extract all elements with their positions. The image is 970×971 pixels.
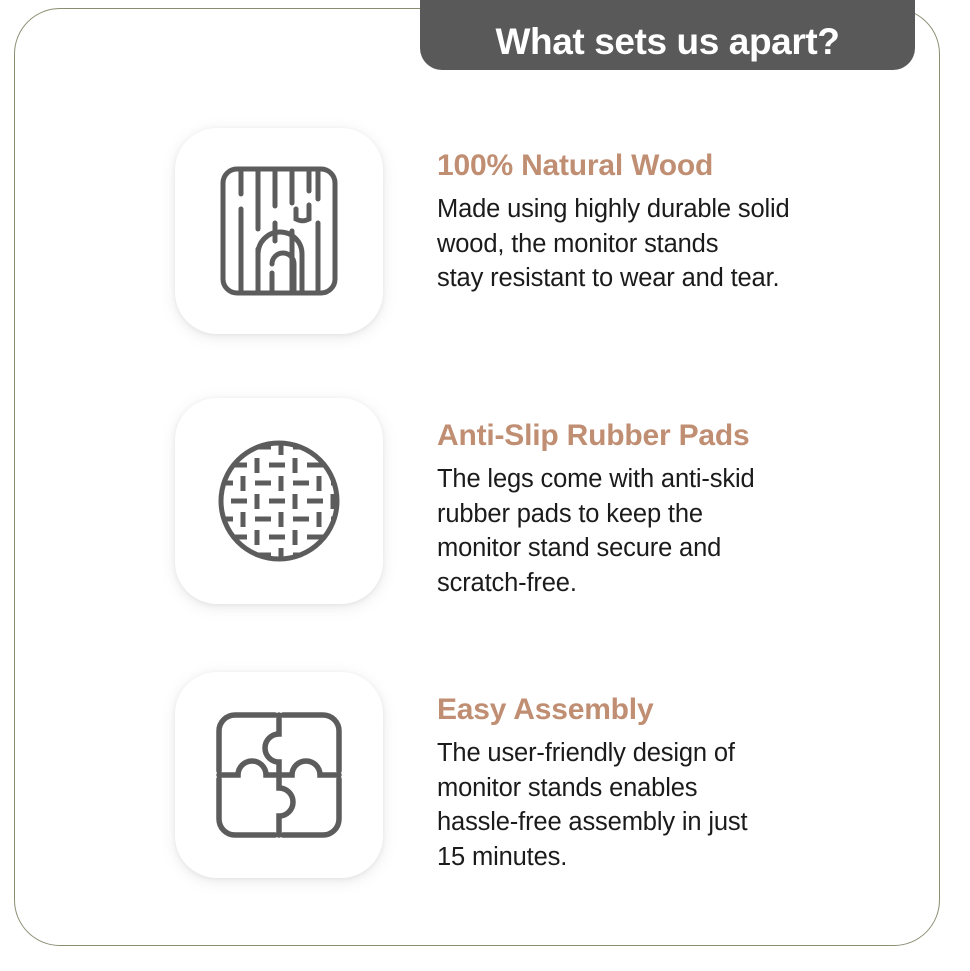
feature-description-line: 15 minutes. bbox=[437, 840, 895, 875]
feature-text-block: 100% Natural Wood Made using highly dura… bbox=[437, 128, 895, 296]
feature-description-line: The user-friendly design of bbox=[437, 736, 895, 771]
woven-rubber-pad-icon bbox=[213, 435, 345, 567]
feature-title: Anti-Slip Rubber Pads bbox=[437, 418, 895, 454]
feature-icon-card bbox=[175, 398, 383, 604]
feature-title: Easy Assembly bbox=[437, 692, 895, 728]
feature-icon-card bbox=[175, 128, 383, 334]
feature-description-line: monitor stand secure and bbox=[437, 531, 895, 566]
feature-description-line: wood, the monitor stands bbox=[437, 227, 895, 262]
feature-description-line: monitor stands enables bbox=[437, 771, 895, 806]
feature-description: The legs come with anti-skid rubber pads… bbox=[437, 462, 895, 600]
feature-description: The user-friendly design of monitor stan… bbox=[437, 736, 895, 874]
feature-list: 100% Natural Wood Made using highly dura… bbox=[0, 0, 970, 971]
feature-title: 100% Natural Wood bbox=[437, 148, 895, 184]
puzzle-pieces-icon bbox=[211, 707, 347, 843]
wood-grain-icon bbox=[214, 161, 344, 301]
feature-item-easy-assembly: Easy Assembly The user-friendly design o… bbox=[175, 672, 895, 878]
feature-text-block: Anti-Slip Rubber Pads The legs come with… bbox=[437, 398, 895, 600]
page-title: What sets us apart? bbox=[496, 20, 840, 64]
feature-description-line: The legs come with anti-skid bbox=[437, 462, 895, 497]
feature-description-line: Made using highly durable solid bbox=[437, 192, 895, 227]
feature-description-line: scratch-free. bbox=[437, 566, 895, 601]
feature-description-line: stay resistant to wear and tear. bbox=[437, 261, 895, 296]
header-banner: What sets us apart? bbox=[420, 0, 915, 70]
feature-description: Made using highly durable solid wood, th… bbox=[437, 192, 895, 296]
feature-item-anti-slip-rubber-pads: Anti-Slip Rubber Pads The legs come with… bbox=[175, 398, 895, 604]
feature-description-line: rubber pads to keep the bbox=[437, 497, 895, 532]
feature-description-line: hassle-free assembly in just bbox=[437, 805, 895, 840]
feature-text-block: Easy Assembly The user-friendly design o… bbox=[437, 672, 895, 874]
feature-item-natural-wood: 100% Natural Wood Made using highly dura… bbox=[175, 128, 895, 334]
feature-icon-card bbox=[175, 672, 383, 878]
